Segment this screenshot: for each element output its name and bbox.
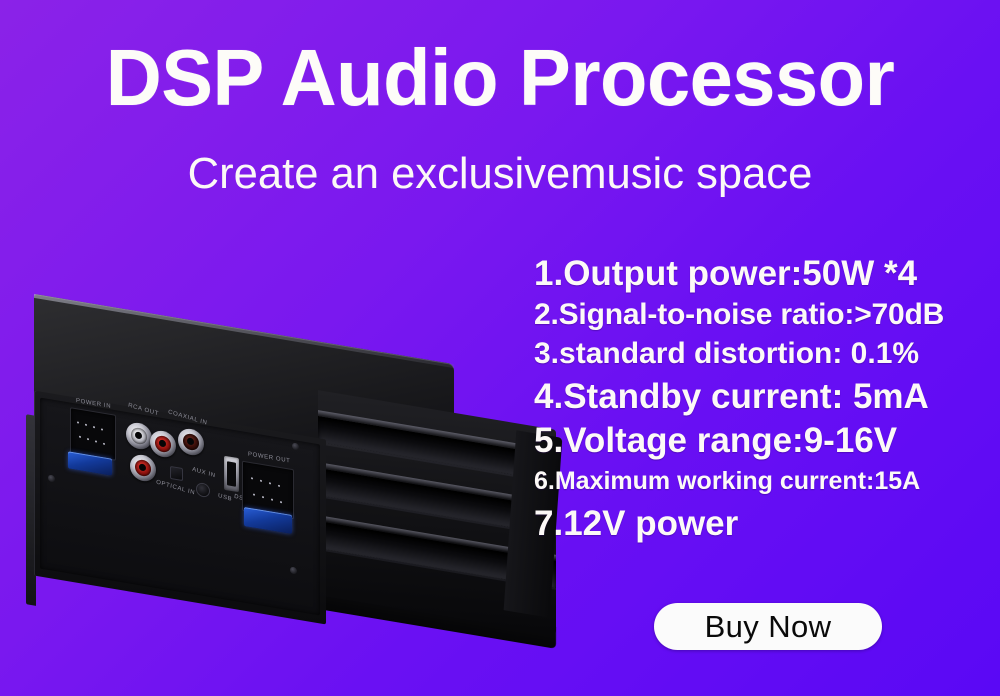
buy-now-button[interactable]: Buy Now [654, 603, 882, 650]
spec-item-4: 4.Standby current: 5mA [534, 379, 1000, 414]
optical-in-port [170, 466, 183, 481]
spec-item-2: 2.Signal-to-noise ratio:>70dB [534, 300, 1000, 330]
spec-item-5: 5.Voltage range:9-16V [534, 423, 1000, 458]
headline-block: DSP Audio Processor Create an exclusivem… [0, 0, 1000, 215]
chassis-screw [292, 442, 299, 450]
chassis-screw [290, 566, 297, 574]
product-image: POWER IN RCA OUT COAXIAL IN [18, 315, 563, 660]
spec-item-1: 1.Output power:50W *4 [534, 256, 1000, 291]
page-subtitle: Create an exclusivemusic space [5, 152, 995, 196]
chassis-screw [48, 474, 55, 482]
usb-port [224, 456, 239, 493]
spec-list: 1.Output power:50W *4 2.Signal-to-noise … [534, 256, 1000, 541]
spec-item-6: 6.Maximum working current:15A [534, 469, 1000, 494]
promo-banner: DSP Audio Processor Create an exclusivem… [0, 0, 1000, 696]
spec-item-7: 7.12V power [534, 506, 1000, 541]
spec-item-3: 3.standard distortion: 0.1% [534, 339, 1000, 369]
page-title: DSP Audio Processor [15, 38, 985, 118]
